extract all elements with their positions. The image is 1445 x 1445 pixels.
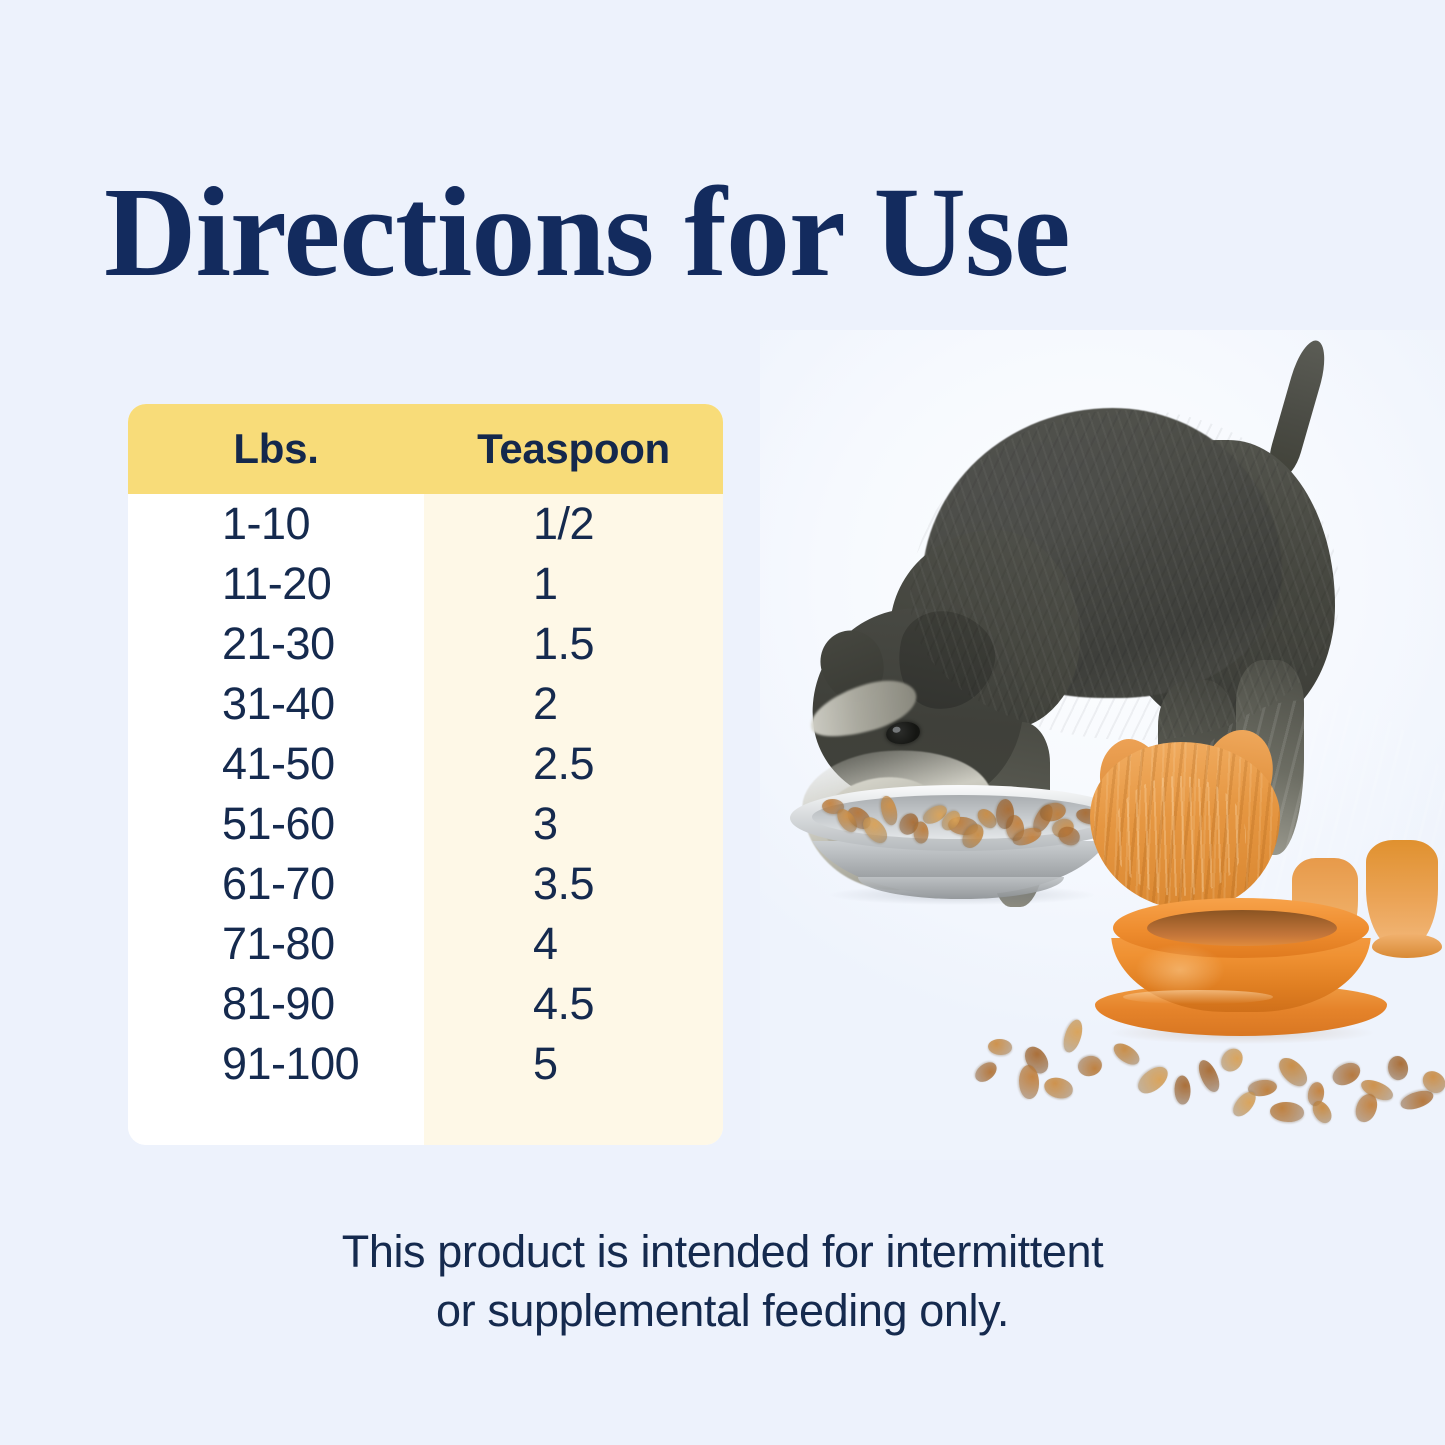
cell-teaspoon: 1 bbox=[424, 554, 723, 614]
column-header-lbs: Lbs. bbox=[128, 404, 424, 494]
table-bottom-padding bbox=[128, 1094, 723, 1140]
feeding-disclaimer-caption: This product is intended for intermitten… bbox=[0, 1222, 1445, 1340]
cell-lbs: 51-60 bbox=[128, 794, 424, 854]
cell-teaspoon: 1.5 bbox=[424, 614, 723, 674]
kibble-piece bbox=[1061, 1017, 1086, 1054]
kibble-piece bbox=[1194, 1057, 1223, 1095]
caption-line-1: This product is intended for intermitten… bbox=[0, 1222, 1445, 1281]
cell-teaspoon: 2.5 bbox=[424, 734, 723, 794]
cell-lbs: 81-90 bbox=[128, 974, 424, 1034]
kibble-piece bbox=[1174, 1075, 1192, 1105]
table-row: 1-101/2 bbox=[128, 494, 723, 554]
scattered-kibble bbox=[760, 330, 1445, 1160]
table-body: 1-101/211-20121-301.531-40241-502.551-60… bbox=[128, 494, 723, 1140]
cell-lbs: 21-30 bbox=[128, 614, 424, 674]
cell-lbs: 31-40 bbox=[128, 674, 424, 734]
page-title: Directions for Use bbox=[104, 168, 1070, 296]
kibble-piece bbox=[1385, 1054, 1411, 1082]
kibble-piece bbox=[1075, 1052, 1105, 1079]
cell-lbs: 71-80 bbox=[128, 914, 424, 974]
kibble-piece bbox=[972, 1058, 1001, 1086]
feeding-chart-table: Lbs. Teaspoon 1-101/211-20121-301.531-40… bbox=[128, 404, 723, 1145]
cell-lbs: 91-100 bbox=[128, 1034, 424, 1094]
table-row: 81-904.5 bbox=[128, 974, 723, 1034]
kibble-piece bbox=[988, 1039, 1012, 1055]
cell-lbs: 1-10 bbox=[128, 494, 424, 554]
kibble-piece bbox=[1329, 1058, 1364, 1090]
cell-teaspoon: 4 bbox=[424, 914, 723, 974]
page-root: Directions for Use Lbs. Teaspoon 1-101/2… bbox=[0, 0, 1445, 1445]
table-row: 61-703.5 bbox=[128, 854, 723, 914]
cell-teaspoon: 5 bbox=[424, 1034, 723, 1094]
cell-teaspoon: 1/2 bbox=[424, 494, 723, 554]
kibble-piece bbox=[1042, 1075, 1074, 1100]
kibble-piece bbox=[1274, 1053, 1313, 1091]
pets-eating-photo bbox=[760, 330, 1445, 1160]
table-row: 21-301.5 bbox=[128, 614, 723, 674]
kibble-piece bbox=[1110, 1040, 1143, 1069]
cell-teaspoon: 3 bbox=[424, 794, 723, 854]
table-row: 71-804 bbox=[128, 914, 723, 974]
caption-line-2: or supplemental feeding only. bbox=[0, 1281, 1445, 1340]
table-row: 31-402 bbox=[128, 674, 723, 734]
table-row: 51-603 bbox=[128, 794, 723, 854]
table-row: 41-502.5 bbox=[128, 734, 723, 794]
column-header-teaspoon: Teaspoon bbox=[424, 404, 723, 494]
cell-teaspoon: 4.5 bbox=[424, 974, 723, 1034]
kibble-piece bbox=[1270, 1102, 1304, 1123]
table-header-row: Lbs. Teaspoon bbox=[128, 404, 723, 494]
cell-lbs: 11-20 bbox=[128, 554, 424, 614]
cell-teaspoon: 3.5 bbox=[424, 854, 723, 914]
table-row: 11-201 bbox=[128, 554, 723, 614]
cell-teaspoon: 2 bbox=[424, 674, 723, 734]
cell-lbs: 61-70 bbox=[128, 854, 424, 914]
table-row: 91-1005 bbox=[128, 1034, 723, 1094]
kibble-piece bbox=[1218, 1045, 1247, 1075]
kibble-piece bbox=[1134, 1061, 1173, 1098]
cell-lbs: 41-50 bbox=[128, 734, 424, 794]
